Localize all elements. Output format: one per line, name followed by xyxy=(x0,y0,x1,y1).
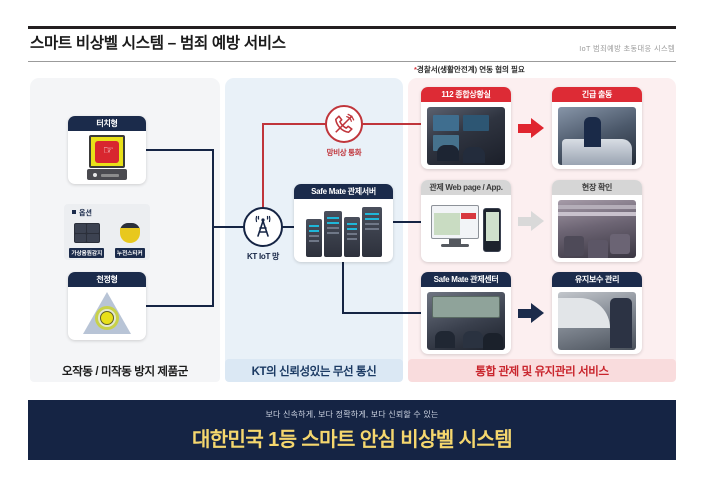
product-card-ceiling[interactable]: 천정형 xyxy=(68,272,146,340)
product-card-touch[interactable]: 터치형 ☞ xyxy=(68,116,146,184)
service-card-dispatch-image xyxy=(552,102,642,169)
service-card-web-app-image xyxy=(421,195,511,262)
service-card-112-image xyxy=(421,102,511,169)
safemate-server-image xyxy=(294,199,393,262)
kt-iot-network-label: KT IoT 망 xyxy=(225,251,301,262)
category-bar-services: 통합 관제 및 유지관리 서비스 xyxy=(408,359,676,382)
service-card-safemate-center-image xyxy=(421,287,511,354)
antenna-tower-icon xyxy=(243,207,283,247)
product-card-touch-title: 터치형 xyxy=(68,116,146,131)
service-card-dispatch-title: 긴급 출동 xyxy=(552,87,642,102)
service-card-112-title: 112 종합상황실 xyxy=(421,87,511,102)
service-card-site-check[interactable]: 현장 확인 xyxy=(552,180,642,262)
footer-headline: 대한민국 1등 스마트 안심 비상벨 시스템 xyxy=(192,423,512,452)
header-rule-bottom xyxy=(28,61,676,62)
touch-emergency-bell-icon: ☞ xyxy=(87,135,127,181)
product-option-captions: 가상음원감지 누전스티커 xyxy=(64,248,150,258)
slide-root: 스마트 비상벨 시스템 – 범죄 예방 서비스 IoT 범죄예방 초동대응 시스… xyxy=(0,0,705,502)
line-red-vertical xyxy=(262,124,264,208)
line-trunk-to-kt-node xyxy=(212,226,245,228)
service-card-site-check-image xyxy=(552,195,642,262)
service-card-safemate-center-title: Safe Mate 관제센터 xyxy=(421,272,511,287)
line-touch-to-trunk xyxy=(146,149,214,151)
police-coordination-note: *경찰서(생활안전계) 연동 협의 필요 xyxy=(414,64,525,75)
line-server-to-webapp xyxy=(393,221,423,223)
safemate-center-photo xyxy=(427,292,505,350)
police-dispatch-photo xyxy=(558,107,636,165)
service-card-emergency-dispatch[interactable]: 긴급 출동 xyxy=(552,87,642,169)
category-bar-network: KT의 신뢰성있는 무선 통신 xyxy=(225,359,403,382)
service-card-maintenance-image xyxy=(552,287,642,354)
footer-banner: 보다 신속하게, 보다 정확하게, 보다 신뢰할 수 있는 대한민국 1등 스마… xyxy=(28,400,676,460)
phone-ring-icon xyxy=(325,105,363,143)
note-text: 경찰서(생활안전계) 연동 협의 필요 xyxy=(417,65,525,74)
safemate-server-card[interactable]: Safe Mate 관제서버 xyxy=(294,184,393,262)
service-card-maintenance[interactable]: 유지보수 관리 xyxy=(552,272,642,354)
control-room-photo xyxy=(427,107,505,165)
page-title: 스마트 비상벨 시스템 – 범죄 예방 서비스 xyxy=(30,31,286,53)
web-app-monitor-photo xyxy=(427,200,505,258)
line-server-down xyxy=(342,261,344,313)
product-card-ceiling-image xyxy=(68,287,146,340)
footer-subtitle: 보다 신속하게, 보다 정확하게, 보다 신뢰할 수 있는 xyxy=(265,409,438,420)
safemate-server-title: Safe Mate 관제서버 xyxy=(294,184,393,199)
line-server-to-center xyxy=(342,312,423,314)
server-rack-icon xyxy=(306,205,382,257)
cctv-site-photo xyxy=(558,200,636,258)
service-card-maintenance-title: 유지보수 관리 xyxy=(552,272,642,287)
arrow-center-to-maintenance xyxy=(518,303,544,323)
page-subtitle: IoT 범죄예방 초동대응 시스템 xyxy=(579,44,675,54)
maintenance-staff-photo xyxy=(558,292,636,350)
option-label-sound: 가상음원감지 xyxy=(69,248,104,258)
leakage-sticker-icon xyxy=(119,223,141,243)
product-card-ceiling-title: 천정형 xyxy=(68,272,146,287)
product-card-touch-image: ☞ xyxy=(68,131,146,184)
category-bar-products: 오작동 / 미작동 방지 제품군 xyxy=(30,359,220,382)
header-rule-top xyxy=(28,26,676,29)
service-card-web-app-title: 관제 Web page / App. xyxy=(421,180,511,195)
product-option-images xyxy=(64,220,150,246)
arrow-112-to-dispatch xyxy=(518,118,544,138)
sound-sensor-icon xyxy=(74,223,100,243)
line-left-trunk-vertical xyxy=(212,149,214,307)
line-red-to-phone xyxy=(262,123,328,125)
option-label-leakage: 누전스티커 xyxy=(115,248,145,258)
service-card-112-control-room[interactable]: 112 종합상황실 xyxy=(421,87,511,169)
product-option-title: 옵션 xyxy=(72,208,92,218)
service-card-web-app[interactable]: 관제 Web page / App. xyxy=(421,180,511,262)
service-card-site-check-title: 현장 확인 xyxy=(552,180,642,195)
emergency-call-label: 망비상 통화 xyxy=(306,147,382,158)
service-card-safemate-center[interactable]: Safe Mate 관제센터 xyxy=(421,272,511,354)
ceiling-emergency-bell-icon xyxy=(83,292,131,336)
line-red-phone-to-112 xyxy=(360,123,422,125)
product-option-box: 옵션 가상음원감지 누전스티커 xyxy=(64,204,150,260)
arrow-webapp-to-site xyxy=(518,211,544,231)
line-ceiling-to-trunk xyxy=(146,305,214,307)
